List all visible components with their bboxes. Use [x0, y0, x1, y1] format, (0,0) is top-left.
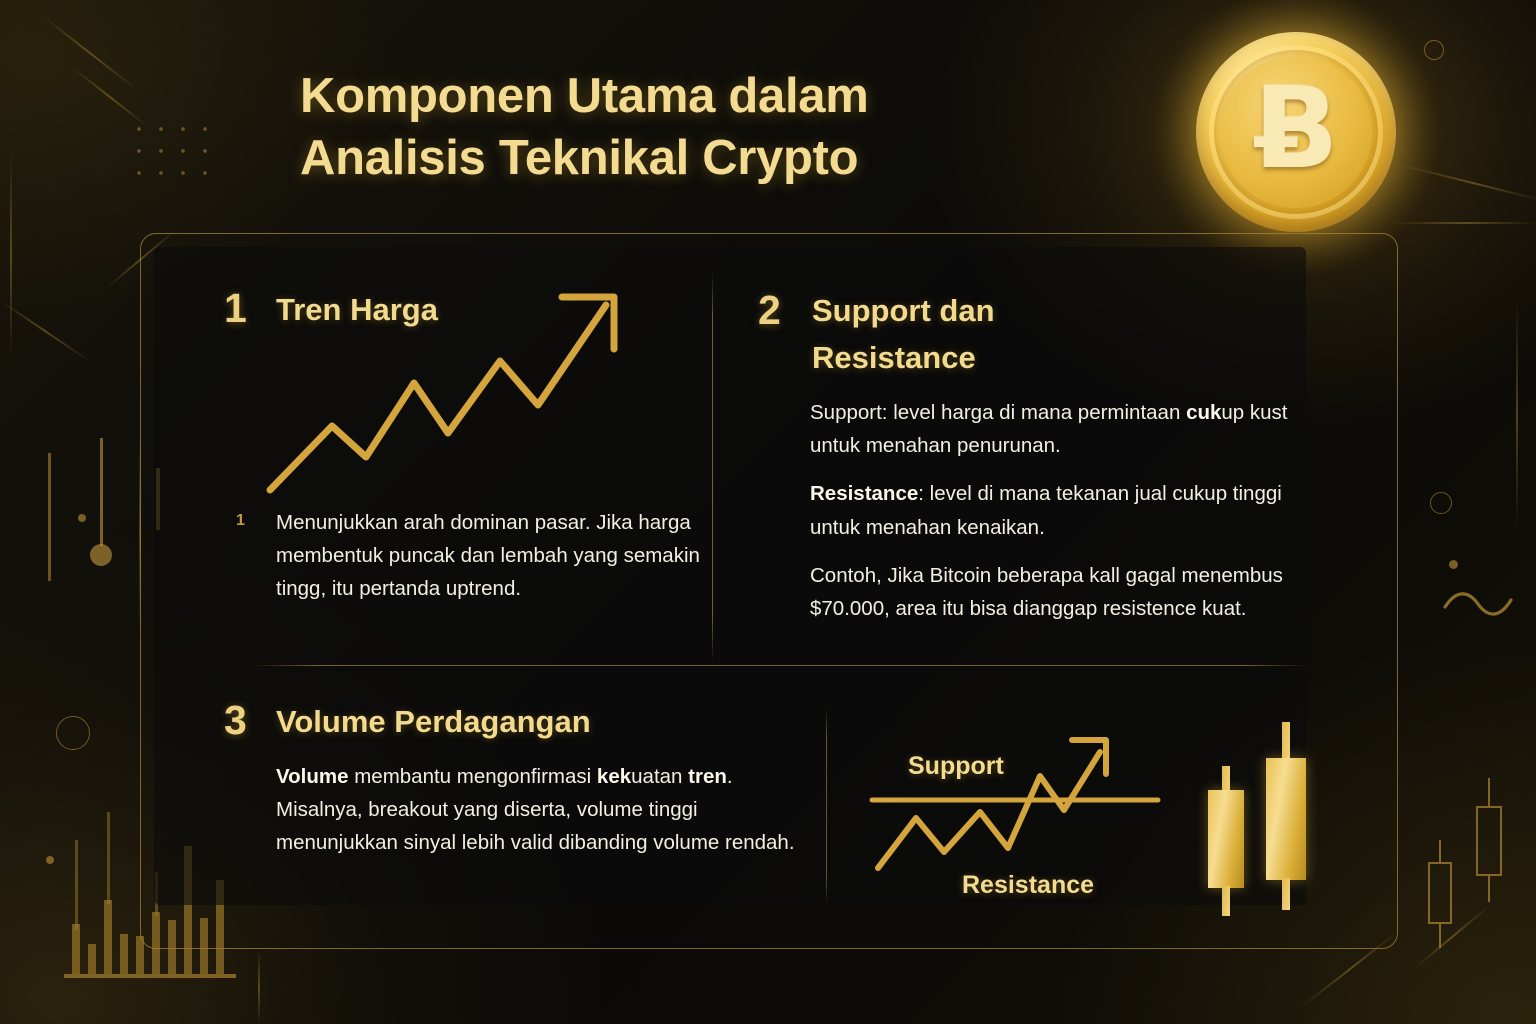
section-2-body: Support: level harga di mana permintaan … [810, 396, 1330, 625]
gold-candlestick-1 [1208, 790, 1244, 888]
candle-body [1208, 790, 1244, 888]
paragraph: Resistance: level di mana tekanan jual c… [810, 477, 1330, 543]
support-label: Support [908, 752, 1004, 781]
candle-outline-decoration [1476, 806, 1502, 876]
candle-wick-lower [1222, 886, 1230, 916]
dot-decoration [46, 856, 54, 864]
dot-decoration [1449, 560, 1458, 569]
coin-face: Ƀ [1220, 56, 1372, 208]
candle-wick-upper [1222, 766, 1230, 792]
section-3-title: Volume Perdagangan [276, 699, 591, 746]
vertical-line-decoration [258, 950, 260, 1024]
coin-disc: Ƀ [1196, 32, 1396, 232]
bitcoin-coin-icon: Ƀ [1196, 32, 1396, 232]
bitcoin-symbol: Ƀ [1253, 73, 1338, 185]
wave-decoration [1442, 590, 1514, 624]
circle-decoration [1424, 40, 1444, 60]
paragraph: Contoh, Jika Bitcoin beberapa kall gagal… [810, 559, 1330, 625]
section-3-body: Volume membantu mengonfirmasi kekuatan t… [276, 760, 816, 860]
section-2-title: Support dan Resistance [812, 288, 1112, 381]
candle-outline-decoration [1428, 862, 1452, 924]
diagonal-line-decoration [1415, 905, 1490, 968]
page-title: Komponen Utama dalam Analisis Teknikal C… [300, 66, 1060, 189]
section-2-title-line-2: Resistance [812, 335, 1112, 382]
circle-decoration [1430, 492, 1452, 514]
dot-decoration [78, 514, 86, 522]
candle-body [1266, 758, 1306, 880]
diagonal-line-decoration [72, 67, 149, 127]
paragraph: Volume membantu mengonfirmasi kekuatan t… [276, 760, 816, 860]
column-divider-lower [826, 708, 827, 904]
uptrend-zigzag-chart [262, 283, 682, 498]
section-1-bullet-marker: 1 [236, 512, 245, 530]
diagonal-line-decoration [42, 15, 137, 90]
candle-wick-lower [1282, 878, 1290, 910]
paragraph: Support: level harga di mana permintaan … [810, 396, 1330, 462]
circle-decoration [56, 716, 90, 750]
section-2-title-line-1: Support dan [812, 288, 1112, 335]
column-divider [712, 272, 713, 662]
support-resistance-mini-chart [868, 716, 1178, 896]
gold-candlestick-2 [1266, 758, 1306, 880]
dot-grid-decoration [128, 118, 220, 190]
section-1-number: 1 [224, 288, 247, 329]
section-3-number: 3 [224, 700, 247, 741]
section-1-body: Menunjukkan arah dominan pasar. Jika har… [276, 506, 706, 606]
candle-wick-upper [1282, 722, 1290, 760]
diagonal-line-decoration [0, 299, 91, 362]
row-divider [252, 665, 1308, 666]
horizontal-line-decoration [1392, 222, 1536, 224]
vertical-line-decoration [10, 150, 12, 360]
section-2-number: 2 [758, 290, 781, 331]
paragraph: Menunjukkan arah dominan pasar. Jika har… [276, 506, 706, 606]
page-title-line-1: Komponen Utama dalam [300, 66, 1060, 128]
vertical-line-decoration [1516, 300, 1518, 530]
resistance-label: Resistance [962, 871, 1094, 900]
infographic-canvas: Komponen Utama dalam Analisis Teknikal C… [0, 0, 1536, 1024]
page-title-line-2: Analisis Teknikal Crypto [300, 128, 1060, 190]
